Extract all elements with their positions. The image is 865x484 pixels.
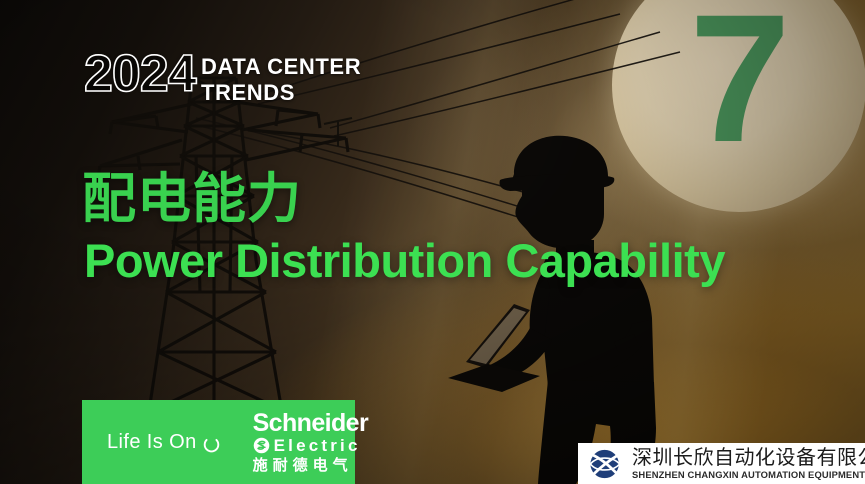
headline-english: Power Distribution Capability [84, 237, 725, 284]
slide-canvas: 7 [0, 0, 865, 484]
report-title: DATA CENTER TRENDS [201, 54, 361, 106]
company-watermark: 深圳长欣自动化设备有限公司 SHENZHEN CHANGXIN AUTOMATI… [578, 443, 865, 484]
electric-wordmark-row: Electric [253, 437, 368, 454]
power-symbol-icon [202, 435, 221, 454]
report-title-line2: TRENDS [201, 80, 361, 106]
company-name-cn: 深圳长欣自动化设备有限公司 [632, 447, 865, 467]
headline-chinese: 配电能力 [82, 172, 302, 226]
changxin-circle-logo-icon [586, 448, 625, 480]
schneider-brand-lockup: Schneider Electric 施耐德电气 [253, 411, 368, 473]
electric-wordmark: Electric [274, 437, 361, 454]
company-name-en: SHENZHEN CHANGXIN AUTOMATION EQUIPMENT C… [632, 470, 865, 479]
year-label: 2024 [84, 48, 196, 100]
company-name-block: 深圳长欣自动化设备有限公司 SHENZHEN CHANGXIN AUTOMATI… [632, 447, 865, 479]
schneider-wordmark: Schneider [253, 411, 368, 436]
schneider-se-mark-icon [253, 437, 270, 454]
schneider-chinese-name: 施耐德电气 [253, 458, 368, 473]
life-is-on-tagline: Life Is On [107, 431, 221, 454]
report-title-line1: DATA CENTER [201, 54, 361, 80]
schneider-logo-box: Life Is On Schneider Electric [82, 400, 355, 484]
life-is-on-text: Life Is On [107, 431, 197, 454]
